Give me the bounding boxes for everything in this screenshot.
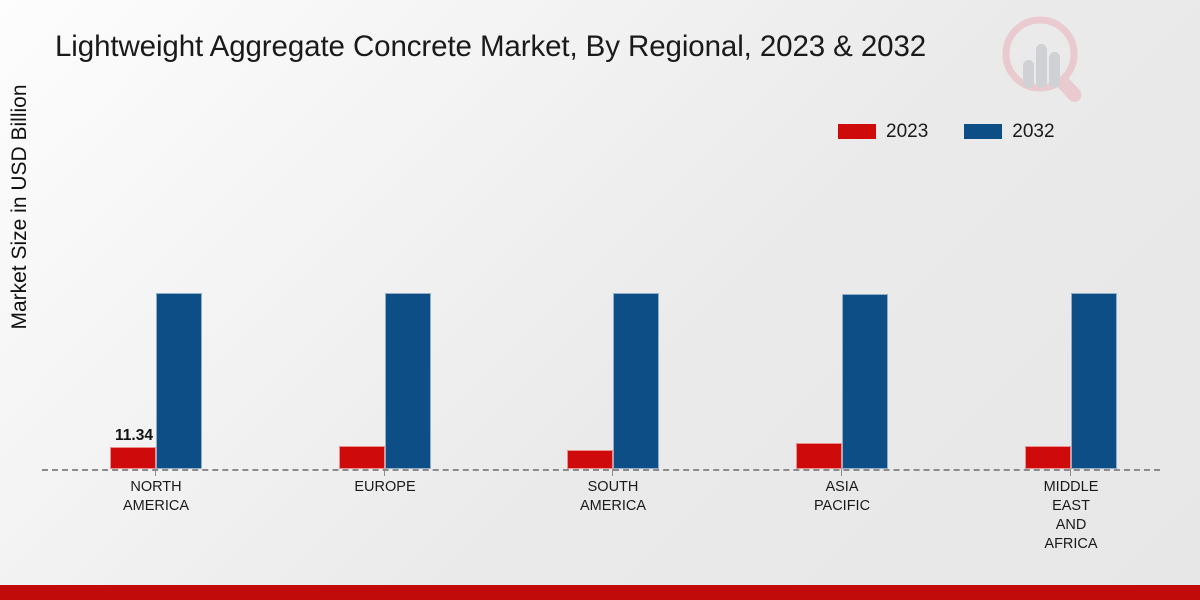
bar-group-europe bbox=[339, 160, 431, 469]
bar-2032-middle-east-and-africa[interactable] bbox=[1071, 293, 1117, 469]
bar-2023-europe[interactable] bbox=[339, 446, 385, 469]
category-label-europe: EUROPE bbox=[310, 478, 460, 497]
axis-tick-europe bbox=[384, 469, 385, 476]
bar-2023-south-america[interactable] bbox=[567, 450, 613, 469]
legend-item-2023[interactable]: 2023 bbox=[838, 122, 928, 141]
bar-2032-south-america[interactable] bbox=[613, 293, 659, 469]
category-label-middle-east-and-africa: MIDDLE EAST AND AFRICA bbox=[996, 478, 1146, 554]
footer-accent-band bbox=[0, 585, 1200, 600]
bar-2023-middle-east-and-africa[interactable] bbox=[1025, 446, 1071, 469]
chart-title: Lightweight Aggregate Concrete Market, B… bbox=[55, 30, 1085, 64]
bar-2032-europe[interactable] bbox=[385, 293, 431, 469]
category-label-south-america: SOUTH AMERICA bbox=[538, 478, 688, 516]
axis-tick-middle-east-and-africa bbox=[1070, 469, 1071, 476]
plot-area: 11.34 bbox=[0, 160, 1200, 470]
bar-group-asia-pacific bbox=[796, 160, 888, 469]
legend-swatch-2023 bbox=[838, 124, 876, 139]
category-label-asia-pacific: ASIA PACIFIC bbox=[767, 478, 917, 516]
legend-item-2032[interactable]: 2032 bbox=[964, 122, 1054, 141]
chart-legend: 2023 2032 bbox=[838, 122, 1055, 141]
bar-group-south-america bbox=[567, 160, 659, 469]
bar-2023-asia-pacific[interactable] bbox=[796, 443, 842, 469]
category-axis: NORTH AMERICA EUROPE SOUTH AMERICA ASIA … bbox=[0, 478, 1200, 568]
legend-label-2023: 2023 bbox=[886, 122, 928, 141]
legend-swatch-2032 bbox=[964, 124, 1002, 139]
chart-container: Lightweight Aggregate Concrete Market, B… bbox=[0, 0, 1200, 600]
axis-baseline bbox=[42, 469, 1160, 471]
bar-2032-asia-pacific[interactable] bbox=[842, 294, 888, 469]
legend-label-2032: 2032 bbox=[1012, 122, 1054, 141]
bar-group-north-america: 11.34 bbox=[110, 160, 202, 469]
axis-tick-north-america bbox=[155, 469, 156, 476]
bar-group-middle-east-and-africa bbox=[1025, 160, 1117, 469]
axis-tick-asia-pacific bbox=[841, 469, 842, 476]
category-label-north-america: NORTH AMERICA bbox=[81, 478, 231, 516]
axis-tick-south-america bbox=[612, 469, 613, 476]
bar-2023-north-america[interactable]: 11.34 bbox=[110, 447, 156, 469]
bar-2032-north-america[interactable] bbox=[156, 293, 202, 469]
